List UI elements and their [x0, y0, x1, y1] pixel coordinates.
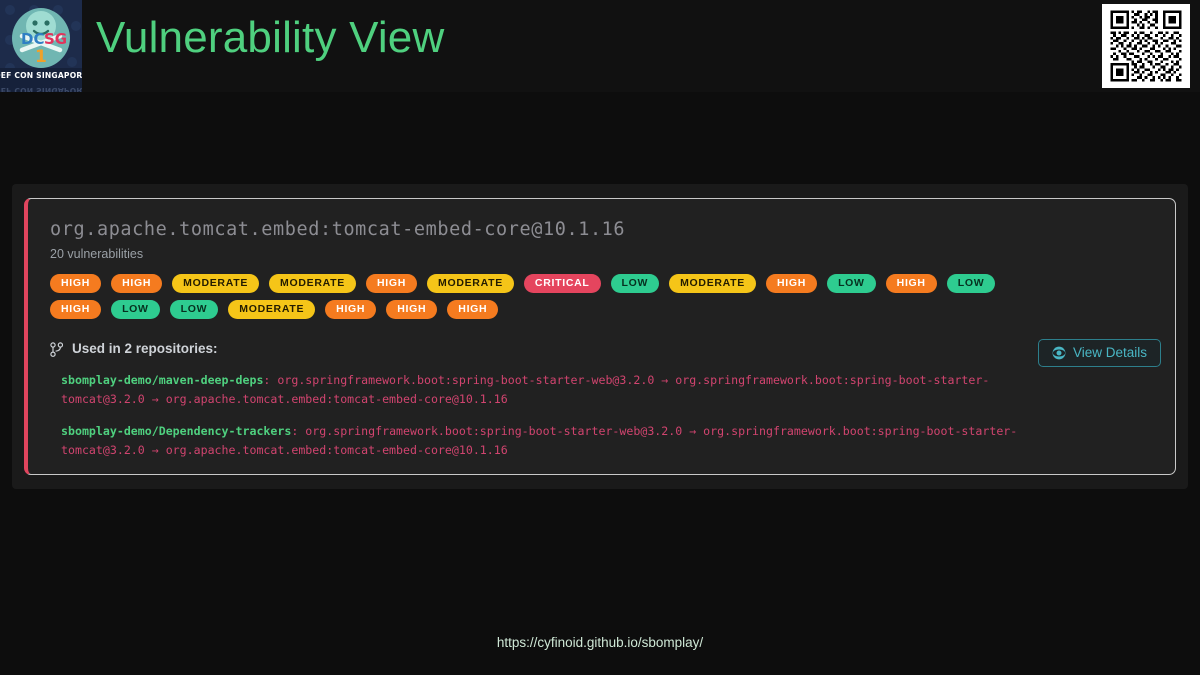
qr-code	[1102, 4, 1190, 88]
svg-text:SG: SG	[44, 30, 67, 48]
slide-root: DC SG 1 DEF CON SINGAPORE DEF CON SINGAP…	[0, 0, 1200, 675]
svg-text:DC: DC	[21, 30, 44, 48]
repositories-heading: Used in 2 repositories:	[50, 340, 1153, 358]
severity-badge[interactable]: LOW	[947, 274, 996, 293]
repositories-heading-label: Used in 2 repositories:	[72, 340, 218, 358]
repository-name[interactable]: sbomplay-demo/maven-deep-deps	[61, 373, 263, 387]
repository-list: sbomplay-demo/maven-deep-deps: org.sprin…	[50, 371, 1153, 460]
severity-badge[interactable]: MODERATE	[172, 274, 259, 293]
git-branch-icon	[50, 342, 63, 357]
severity-badge[interactable]: LOW	[170, 300, 219, 319]
severity-badge[interactable]: CRITICAL	[524, 274, 601, 293]
severity-badge[interactable]: LOW	[827, 274, 876, 293]
severity-badge[interactable]: LOW	[611, 274, 660, 293]
view-details-label: View Details	[1073, 339, 1147, 367]
footer-url: https://cyfinoid.github.io/sbomplay/	[0, 634, 1200, 652]
severity-badge[interactable]: LOW	[111, 300, 160, 319]
slide-header: DC SG 1 DEF CON SINGAPORE DEF CON SINGAP…	[0, 0, 1200, 92]
severity-badge[interactable]: MODERATE	[228, 300, 315, 319]
severity-badge[interactable]: MODERATE	[427, 274, 514, 293]
svg-text:DEF CON SINGAPORE: DEF CON SINGAPORE	[0, 86, 82, 92]
defcon-singapore-logo: DC SG 1 DEF CON SINGAPORE DEF CON SINGAP…	[0, 0, 82, 92]
repository-name[interactable]: sbomplay-demo/Dependency-trackers	[61, 424, 291, 438]
severity-badge[interactable]: HIGH	[325, 300, 376, 319]
severity-badge-list: HIGHHIGHMODERATEMODERATEHIGHMODERATECRIT…	[50, 274, 1050, 319]
severity-badge[interactable]: HIGH	[886, 274, 937, 293]
severity-badge[interactable]: MODERATE	[269, 274, 356, 293]
eye-icon	[1052, 346, 1066, 360]
page-title: Vulnerability View	[96, 10, 444, 66]
package-name: org.apache.tomcat.embed:tomcat-embed-cor…	[50, 217, 1153, 243]
svg-text:DEF CON SINGAPORE: DEF CON SINGAPORE	[0, 71, 82, 80]
severity-badge[interactable]: HIGH	[766, 274, 817, 293]
severity-badge[interactable]: HIGH	[50, 300, 101, 319]
severity-badge[interactable]: HIGH	[111, 274, 162, 293]
view-details-button[interactable]: View Details	[1038, 339, 1161, 367]
repository-item[interactable]: sbomplay-demo/Dependency-trackers: org.s…	[50, 422, 1050, 460]
vulnerability-panel: org.apache.tomcat.embed:tomcat-embed-cor…	[12, 184, 1188, 489]
severity-badge[interactable]: HIGH	[50, 274, 101, 293]
severity-badge[interactable]: HIGH	[447, 300, 498, 319]
severity-badge[interactable]: MODERATE	[669, 274, 756, 293]
vulnerability-card: org.apache.tomcat.embed:tomcat-embed-cor…	[24, 198, 1176, 475]
repository-item[interactable]: sbomplay-demo/maven-deep-deps: org.sprin…	[50, 371, 1050, 409]
vulnerability-count: 20 vulnerabilities	[50, 246, 1153, 262]
severity-badge[interactable]: HIGH	[366, 274, 417, 293]
svg-text:1: 1	[35, 47, 47, 67]
severity-badge[interactable]: HIGH	[386, 300, 437, 319]
